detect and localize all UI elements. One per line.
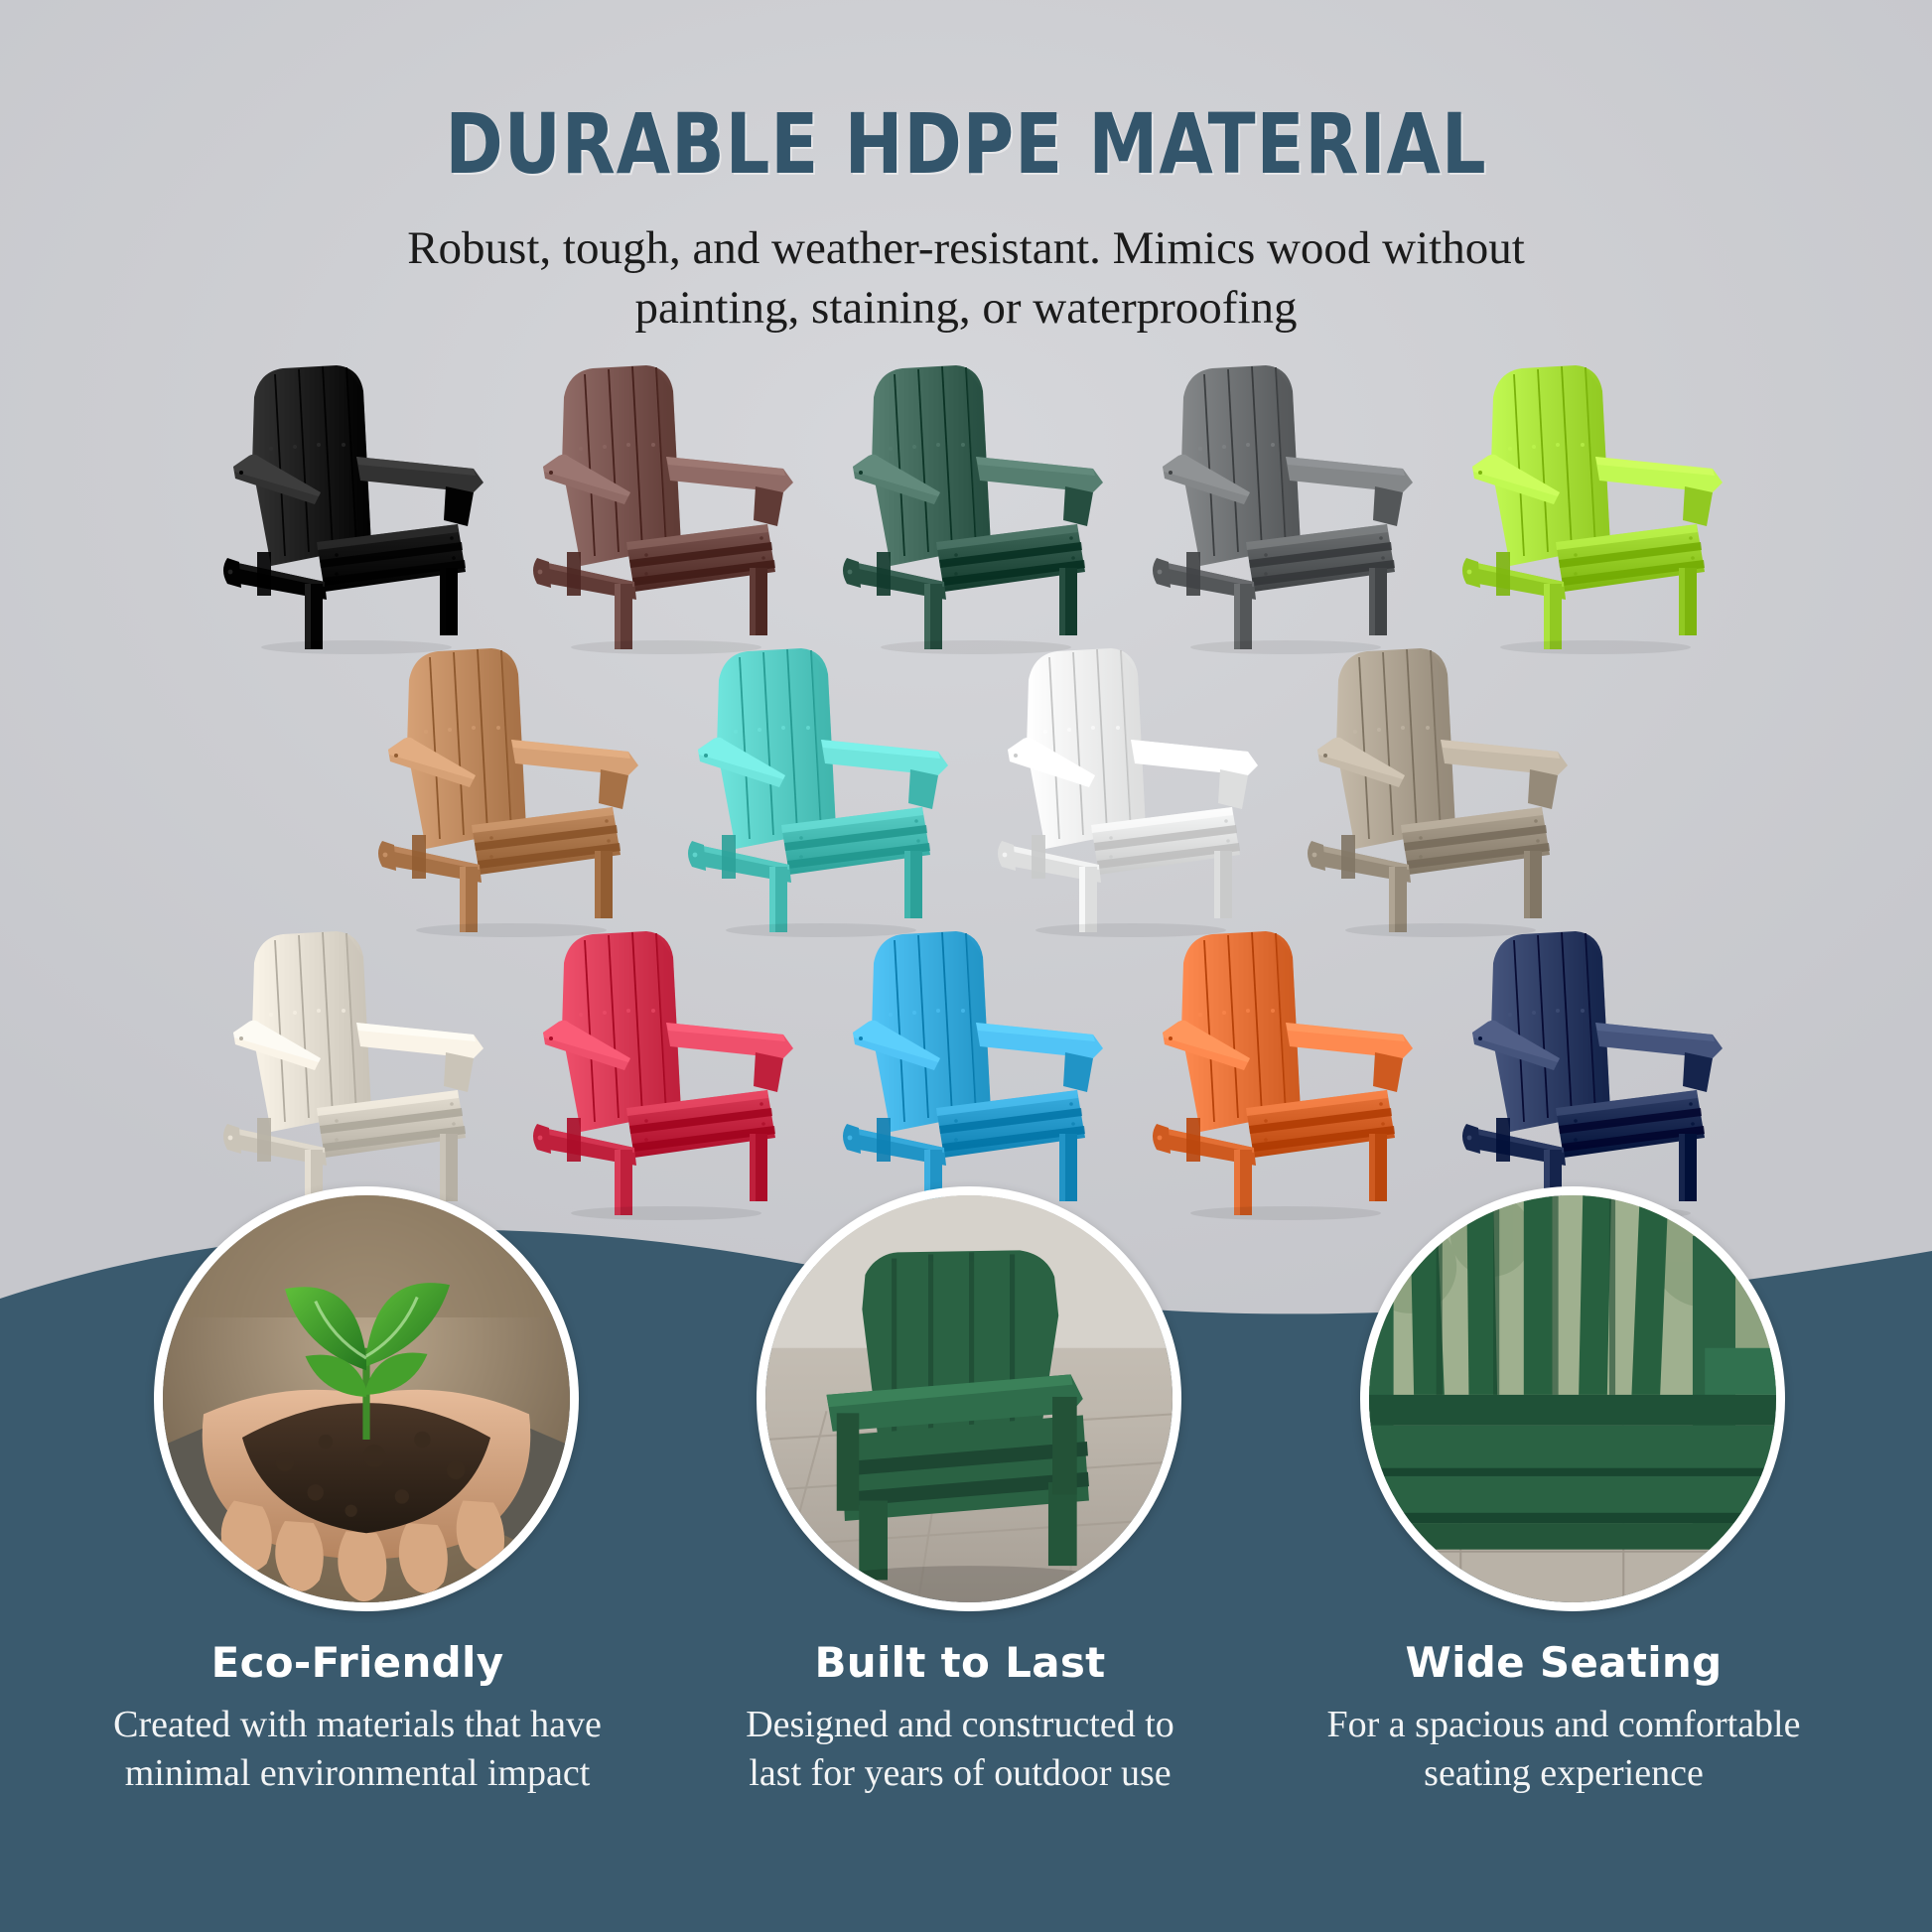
feature-image-eco-friendly — [154, 1186, 579, 1611]
feature-caption-wide-seating: Wide Seating For a spacious and comforta… — [1286, 1638, 1842, 1799]
feature-title-built-to-last: Built to Last — [682, 1638, 1238, 1687]
chair-swatch-white[interactable] — [972, 640, 1270, 938]
feature-desc-eco-friendly-line-1: Created with materials that have — [79, 1701, 635, 1749]
hands-holding-seedling-icon — [163, 1195, 570, 1602]
feature-image-wide-seating — [1360, 1186, 1785, 1611]
chair-swatch-crimson-red[interactable] — [507, 923, 805, 1221]
chair-dark-green[interactable] — [817, 357, 1115, 655]
chair-swatch-gray[interactable] — [1127, 357, 1425, 655]
chair-orange[interactable] — [1127, 923, 1425, 1221]
chair-armrest-right — [1441, 740, 1568, 809]
chair-armrest-right — [666, 1023, 793, 1092]
chair-swatch-black[interactable] — [198, 357, 495, 655]
feature-image-built-to-last — [757, 1186, 1181, 1611]
chair-armrest-right — [976, 457, 1103, 526]
chair-brown[interactable] — [507, 357, 805, 655]
chair-armrest-right — [356, 457, 483, 526]
chair-armrest-right — [821, 740, 948, 809]
chair-black[interactable] — [198, 357, 495, 655]
wide-seat-closeup-icon — [1369, 1195, 1776, 1602]
chair-navy-blue[interactable] — [1437, 923, 1734, 1221]
chair-armrest-right — [1286, 457, 1413, 526]
chair-light-blue[interactable] — [817, 923, 1115, 1221]
chair-armrest-right — [511, 740, 638, 809]
chair-armrest-right — [1131, 740, 1258, 809]
green-chair-photo-icon — [765, 1195, 1173, 1602]
chair-armrest-right — [356, 1023, 483, 1092]
chair-ivory[interactable] — [198, 923, 495, 1221]
chair-tan[interactable] — [352, 640, 650, 938]
feature-caption-built-to-last: Built to Last Designed and constructed t… — [682, 1638, 1238, 1799]
chair-swatch-ivory[interactable] — [198, 923, 495, 1221]
feature-title-eco-friendly: Eco-Friendly — [79, 1638, 635, 1687]
feature-caption-eco-friendly: Eco-Friendly Created with materials that… — [79, 1638, 635, 1799]
chair-swatch-orange[interactable] — [1127, 923, 1425, 1221]
chair-armrest-right — [1595, 1023, 1723, 1092]
chair-swatch-lime-green[interactable] — [1437, 357, 1734, 655]
feature-desc-eco-friendly-line-2: minimal environmental impact — [79, 1749, 635, 1798]
chair-swatch-light-blue[interactable] — [817, 923, 1115, 1221]
chair-armrest-right — [1286, 1023, 1413, 1092]
chair-armrest-right — [666, 457, 793, 526]
feature-desc-built-to-last-line-1: Designed and constructed to — [682, 1701, 1238, 1749]
chair-armrest-right — [976, 1023, 1103, 1092]
chair-color-grid — [0, 0, 1932, 1330]
feature-desc-built-to-last-line-2: last for years of outdoor use — [682, 1749, 1238, 1798]
chair-swatch-khaki[interactable] — [1282, 640, 1580, 938]
feature-desc-wide-seating-line-1: For a spacious and comfortable — [1286, 1701, 1842, 1749]
chair-lime-green[interactable] — [1437, 357, 1734, 655]
feature-title-wide-seating: Wide Seating — [1286, 1638, 1842, 1687]
chair-swatch-navy-blue[interactable] — [1437, 923, 1734, 1221]
chair-swatch-brown[interactable] — [507, 357, 805, 655]
chair-armrest-right — [1595, 457, 1723, 526]
chair-gray[interactable] — [1127, 357, 1425, 655]
chair-swatch-tan[interactable] — [352, 640, 650, 938]
chair-crimson-red[interactable] — [507, 923, 805, 1221]
chair-swatch-dark-green[interactable] — [817, 357, 1115, 655]
chair-white[interactable] — [972, 640, 1270, 938]
infographic-canvas: DURABLE HDPE MATERIAL Robust, tough, and… — [0, 0, 1932, 1932]
chair-aqua[interactable] — [662, 640, 960, 938]
chair-swatch-aqua[interactable] — [662, 640, 960, 938]
chair-khaki[interactable] — [1282, 640, 1580, 938]
feature-desc-wide-seating-line-2: seating experience — [1286, 1749, 1842, 1798]
